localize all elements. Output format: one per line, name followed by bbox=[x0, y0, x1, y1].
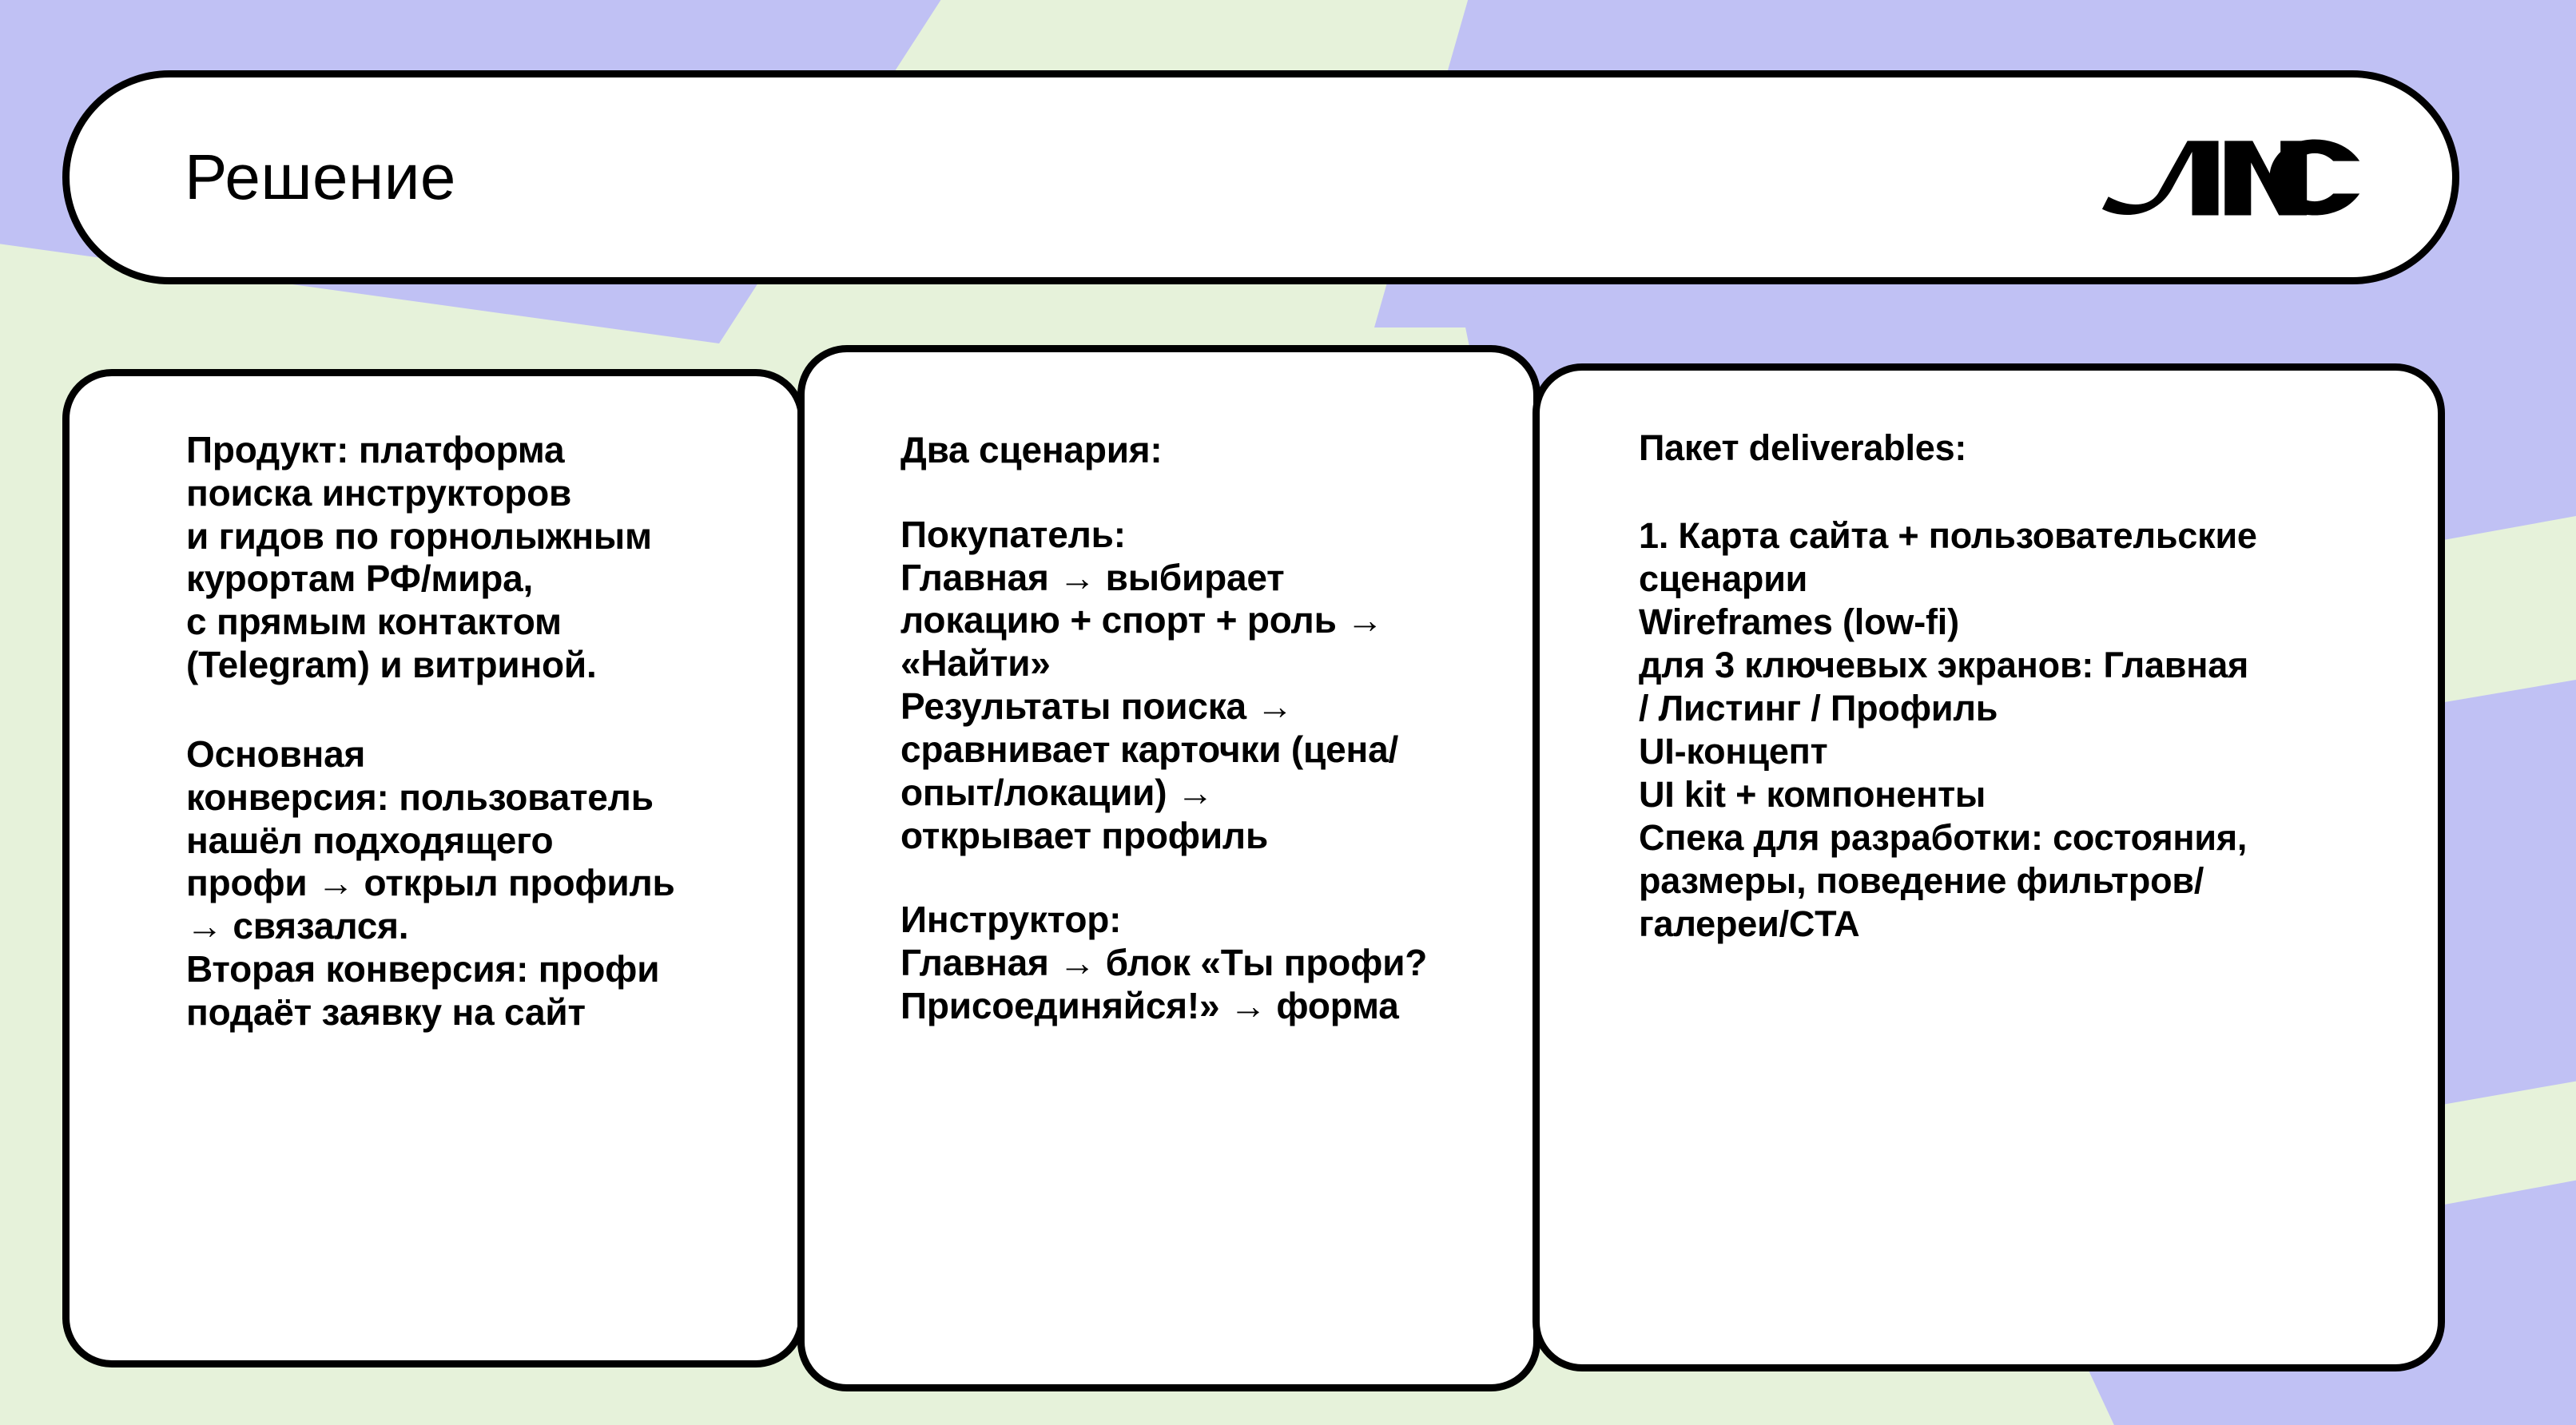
deliverables-heading-text: Пакет deliverables: bbox=[1639, 427, 2406, 470]
conversion-text: Основная конверсия: пользователь нашёл п… bbox=[186, 733, 776, 1034]
product-card-body: Продукт: платформа поиска инструкторов и… bbox=[70, 376, 798, 1034]
scenarios-card-body: Два сценария: Покупатель: Главная → выби… bbox=[805, 352, 1533, 1028]
scenarios-card: Два сценария: Покупатель: Главная → выби… bbox=[797, 345, 1540, 1391]
scenarios-heading-text: Два сценария: bbox=[900, 429, 1514, 472]
instructor-scenario-text: Инструктор: Главная → блок «Ты профи? Пр… bbox=[900, 899, 1514, 1027]
page-title: Решение bbox=[185, 145, 456, 209]
deliverables-list-text: 1. Карта сайта + пользовательские сценар… bbox=[1639, 514, 2406, 946]
slide-root: Решение Продукт: платформа поиска инстру… bbox=[0, 0, 2576, 1425]
product-summary-text: Продукт: платформа поиска инструкторов и… bbox=[186, 429, 776, 687]
lis-wordmark-logo bbox=[2101, 133, 2364, 221]
buyer-scenario-text: Покупатель: Главная → выбирает локацию +… bbox=[900, 514, 1514, 858]
deliverables-card-body: Пакет deliverables: 1. Карта сайта + пол… bbox=[1540, 371, 2438, 946]
product-card: Продукт: платформа поиска инструкторов и… bbox=[62, 369, 805, 1367]
slide-header-card: Решение bbox=[62, 70, 2459, 284]
deliverables-card: Пакет deliverables: 1. Карта сайта + пол… bbox=[1532, 363, 2445, 1371]
